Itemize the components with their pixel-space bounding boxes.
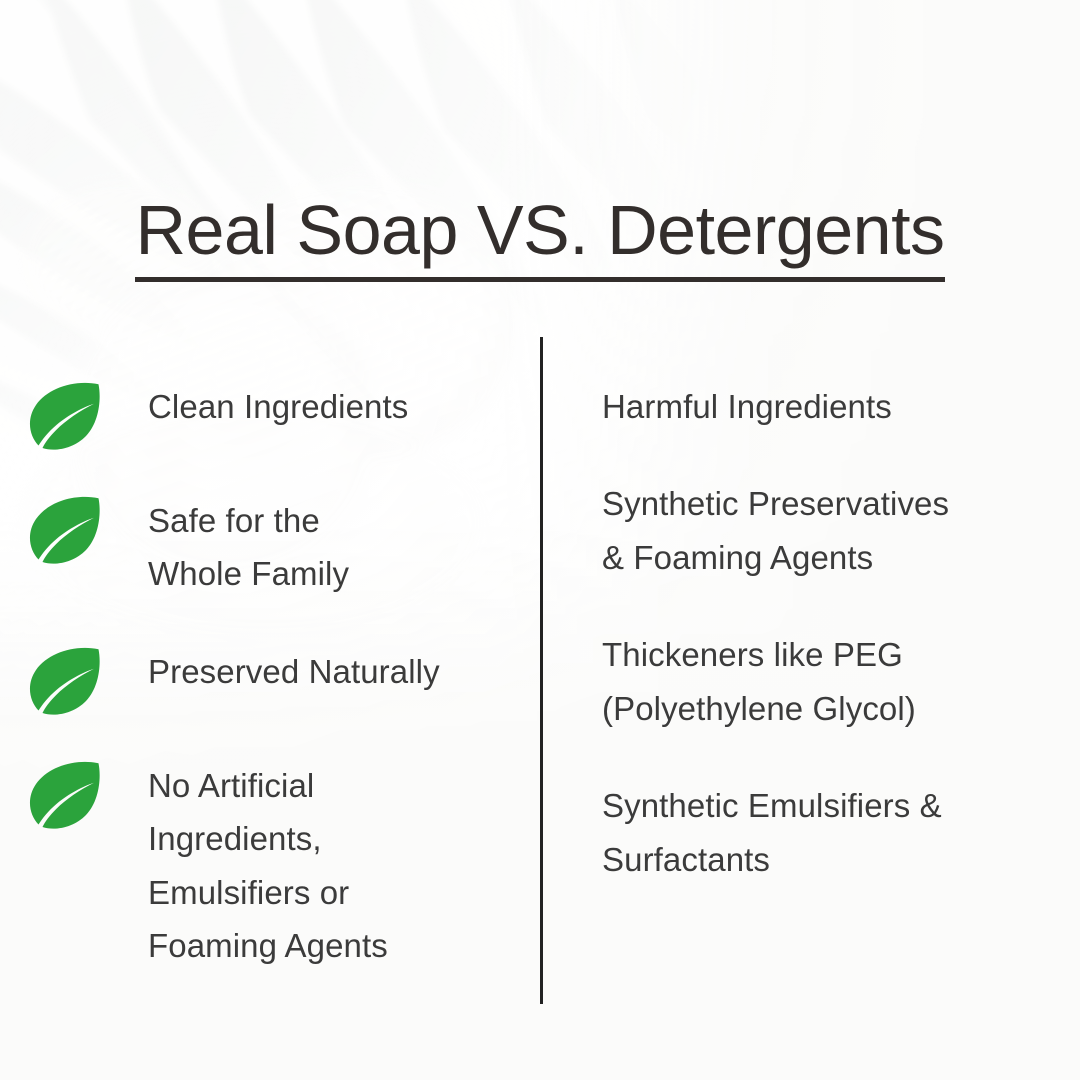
leaf-icon-cell (28, 380, 148, 450)
comparison-columns: Clean Ingredients Safe for the Whole Fam… (0, 0, 1080, 1080)
list-item-label: No Artificial Ingredients, Emulsifiers o… (148, 759, 528, 973)
list-item-label: Preserved Naturally (148, 645, 528, 698)
leaf-icon-cell (28, 494, 148, 564)
list-item-label: Synthetic Emulsifiers & Surfactants (602, 779, 1042, 886)
list-item-label: Safe for the Whole Family (148, 494, 528, 601)
list-item-label: Synthetic Preservatives & Foaming Agents (602, 477, 1042, 584)
list-item-label: Clean Ingredients (148, 380, 528, 433)
list-item-label: Harmful Ingredients (602, 380, 1042, 433)
infographic-canvas: Real Soap VS. Detergents Clean Ingredien… (0, 0, 1080, 1080)
leaf-icon (28, 382, 100, 450)
real-soap-column: Clean Ingredients Safe for the Whole Fam… (28, 380, 528, 973)
list-item-label: Thickeners like PEG (Polyethylene Glycol… (602, 628, 1042, 735)
list-item: No Artificial Ingredients, Emulsifiers o… (28, 759, 528, 973)
list-item: Clean Ingredients (28, 380, 528, 450)
leaf-icon (28, 647, 100, 715)
leaf-icon-cell (28, 759, 148, 829)
detergents-column: Harmful Ingredients Synthetic Preservati… (602, 380, 1042, 886)
list-item: Safe for the Whole Family (28, 494, 528, 601)
leaf-icon-cell (28, 645, 148, 715)
leaf-icon (28, 496, 100, 564)
list-item: Preserved Naturally (28, 645, 528, 715)
leaf-icon (28, 761, 100, 829)
